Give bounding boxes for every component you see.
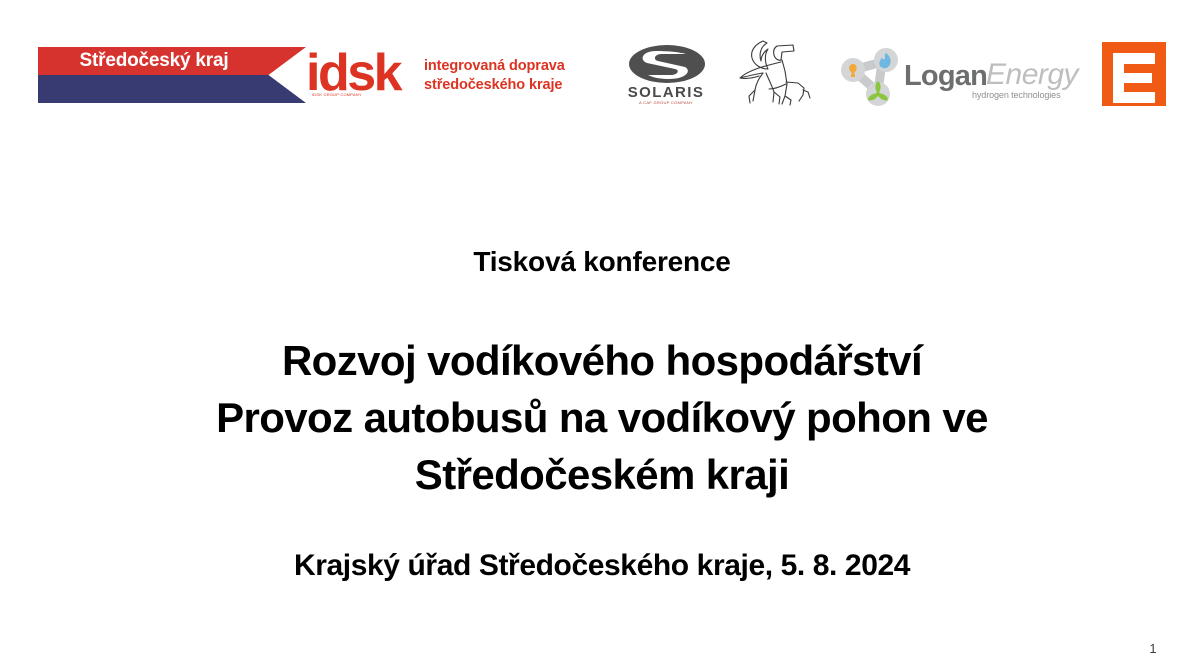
- solaris-sub: A CAF GROUP COMPANY: [618, 100, 714, 105]
- partner-logo-bar: Středočeský kraj idsk IDSK GROUP COMPANY…: [0, 0, 1204, 130]
- idsk-wordmark-sub: IDSK GROUP COMPANY: [312, 92, 362, 97]
- pegasus-winged-horse-icon: [730, 38, 826, 110]
- logo-logan-energy: Logan Energy hydrogen technologies: [838, 46, 1056, 108]
- logan-wordmark: Logan: [904, 60, 987, 93]
- idsk-tagline-line2: středočeského kraje: [424, 77, 562, 93]
- venue-and-date: Krajský úřad Středočeského kraje, 5. 8. …: [0, 549, 1204, 583]
- conference-label: Tisková konference: [0, 246, 1204, 278]
- page-title-line-1: Rozvoj vodíkového hospodářství: [0, 332, 1204, 389]
- page-title-line-3: Středočeském kraji: [0, 446, 1204, 503]
- logo-cez: [1102, 42, 1166, 106]
- page-title: Rozvoj vodíkového hospodářství Provoz au…: [0, 332, 1204, 503]
- page-number: 1: [1143, 641, 1163, 656]
- solaris-s-mark-icon: [628, 44, 706, 84]
- page-title-line-2: Provoz autobusů na vodíkový pohon ve: [0, 389, 1204, 446]
- stredocesky-kraj-label: Středočeský kraj: [38, 47, 270, 75]
- logo-stredocesky-kraj: Středočeský kraj: [38, 47, 306, 103]
- logan-energy-molecule-icon: [838, 46, 910, 108]
- logo-solaris: SOLARIS A CAF GROUP COMPANY: [618, 44, 714, 106]
- stredocesky-kraj-navy-band: [38, 75, 306, 103]
- presentation-slide: Středočeský kraj idsk IDSK GROUP COMPANY…: [0, 0, 1204, 671]
- idsk-tagline-line1: integrovaná doprava: [424, 58, 565, 74]
- logo-idsk: idsk IDSK GROUP COMPANY integrovaná dopr…: [306, 48, 598, 104]
- logan-energy-wordmark: Energy: [986, 58, 1078, 92]
- logan-energy-tagline: hydrogen technologies: [972, 90, 1060, 100]
- solaris-wordmark: SOLARIS: [618, 84, 714, 101]
